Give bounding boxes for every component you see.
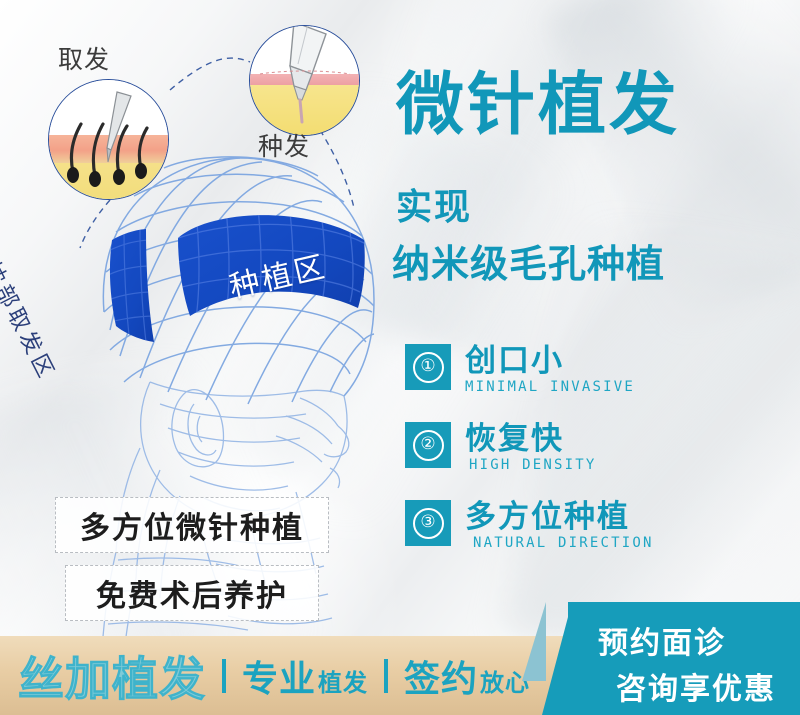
- feature-number-badge: ③: [405, 500, 451, 546]
- bottom-item-2: 签约 放心: [404, 650, 530, 702]
- cta-wedge: [542, 602, 572, 715]
- feature-title-2: 恢复快: [465, 422, 597, 456]
- page-title: 微针植发: [396, 72, 680, 140]
- feature-subtitle-2: HIGH DENSITY: [469, 457, 597, 473]
- extract-label: 取发: [58, 40, 110, 76]
- feature-item-1: ① 创口小 MINIMAL INVASIVE: [405, 344, 635, 395]
- bottom-item-2-big: 签约: [404, 650, 478, 702]
- separator: [222, 659, 226, 693]
- hair-implantation-illustration: [249, 25, 360, 136]
- tag-box-1: 多方位微针种植: [55, 497, 329, 553]
- implant-label: 种发: [258, 127, 310, 163]
- feature-subtitle-3: NATURAL DIRECTION: [473, 535, 654, 551]
- cta-line-1: 预约面诊: [598, 618, 726, 662]
- separator: [384, 659, 388, 693]
- feature-item-3: ③ 多方位种植 NATURAL DIRECTION: [405, 500, 654, 551]
- implant-pen-icon: [290, 26, 326, 122]
- hair-extraction-illustration: [48, 79, 169, 200]
- cta-line-2: 咨询享优惠: [616, 664, 776, 708]
- brand-logo: 丝加植发: [18, 643, 206, 709]
- feature-number-1: ①: [413, 352, 444, 383]
- feature-title-3: 多方位种植: [465, 500, 654, 534]
- feature-subtitle-1: MINIMAL INVASIVE: [465, 379, 635, 395]
- feature-number-badge: ②: [405, 422, 451, 468]
- poster-canvas: 取发 种发 后枕部取发区 种植区 微针植发 实现 纳米级毛孔种植 ① 创口小 M…: [0, 0, 800, 715]
- feature-title-1: 创口小: [465, 344, 635, 378]
- bottom-item-1-big: 专业: [242, 650, 316, 702]
- feature-number-2: ②: [413, 430, 444, 461]
- feature-item-2: ② 恢复快 HIGH DENSITY: [405, 422, 597, 473]
- tag-box-2: 免费术后养护: [65, 565, 319, 621]
- cta-banner[interactable]: 预约面诊 咨询享优惠: [568, 602, 800, 715]
- subtitle-line-1: 实现: [396, 190, 472, 226]
- feature-number-3: ③: [413, 508, 444, 539]
- feature-number-badge: ①: [405, 344, 451, 390]
- bottom-item-1-small: 植发: [318, 663, 368, 698]
- subtitle-line-2: 纳米级毛孔种植: [392, 245, 665, 283]
- bottom-item-1: 专业 植发: [242, 650, 368, 702]
